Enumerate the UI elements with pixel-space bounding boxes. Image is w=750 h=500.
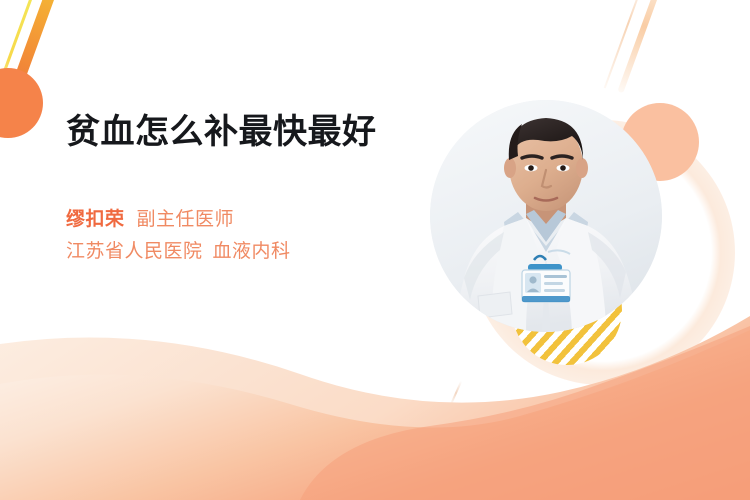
diagonal-stripe-top-left-thick — [11, 0, 66, 90]
doctor-credentials: 缪扣荣副主任医师 江苏省人民医院血液内科 — [66, 205, 426, 269]
doctor-hospital: 江苏省人民医院 — [66, 241, 203, 262]
doctor-photo — [430, 100, 662, 332]
diagonal-stripe-bottom-thick — [159, 361, 176, 396]
diagonal-stripe-top-right-thin — [604, 0, 645, 88]
salmon-circle-decoration — [621, 103, 699, 181]
pale-halo-ring-decoration — [470, 120, 735, 385]
page-title: 贫血怎么补最快最好 — [66, 112, 426, 153]
peach-wave-front — [0, 300, 750, 500]
orange-circle-decoration — [0, 68, 43, 138]
doctor-name: 缪扣荣 — [66, 209, 125, 230]
diagonal-stripe-top-left-thin — [0, 0, 37, 118]
diagonal-stripe-bottom-right — [450, 381, 462, 406]
cover-text-block: 贫血怎么补最快最好 缪扣荣副主任医师 江苏省人民医院血液内科 — [66, 112, 426, 269]
diagonal-stripe-top-right-thick — [617, 0, 666, 93]
doctor-name-and-role: 缪扣荣副主任医师 — [66, 205, 426, 235]
diagonal-stripe-bottom-thin — [152, 363, 166, 393]
doctor-article-cover-card: 贫血怎么补最快最好 缪扣荣副主任医师 江苏省人民医院血液内科 — [0, 0, 750, 500]
striped-gold-circle-decoration — [512, 255, 622, 365]
peach-wave-back — [0, 300, 750, 500]
doctor-department: 血液内科 — [213, 241, 291, 262]
doctor-affiliation: 江苏省人民医院血液内科 — [66, 235, 426, 269]
doctor-role: 副主任医师 — [137, 209, 235, 230]
